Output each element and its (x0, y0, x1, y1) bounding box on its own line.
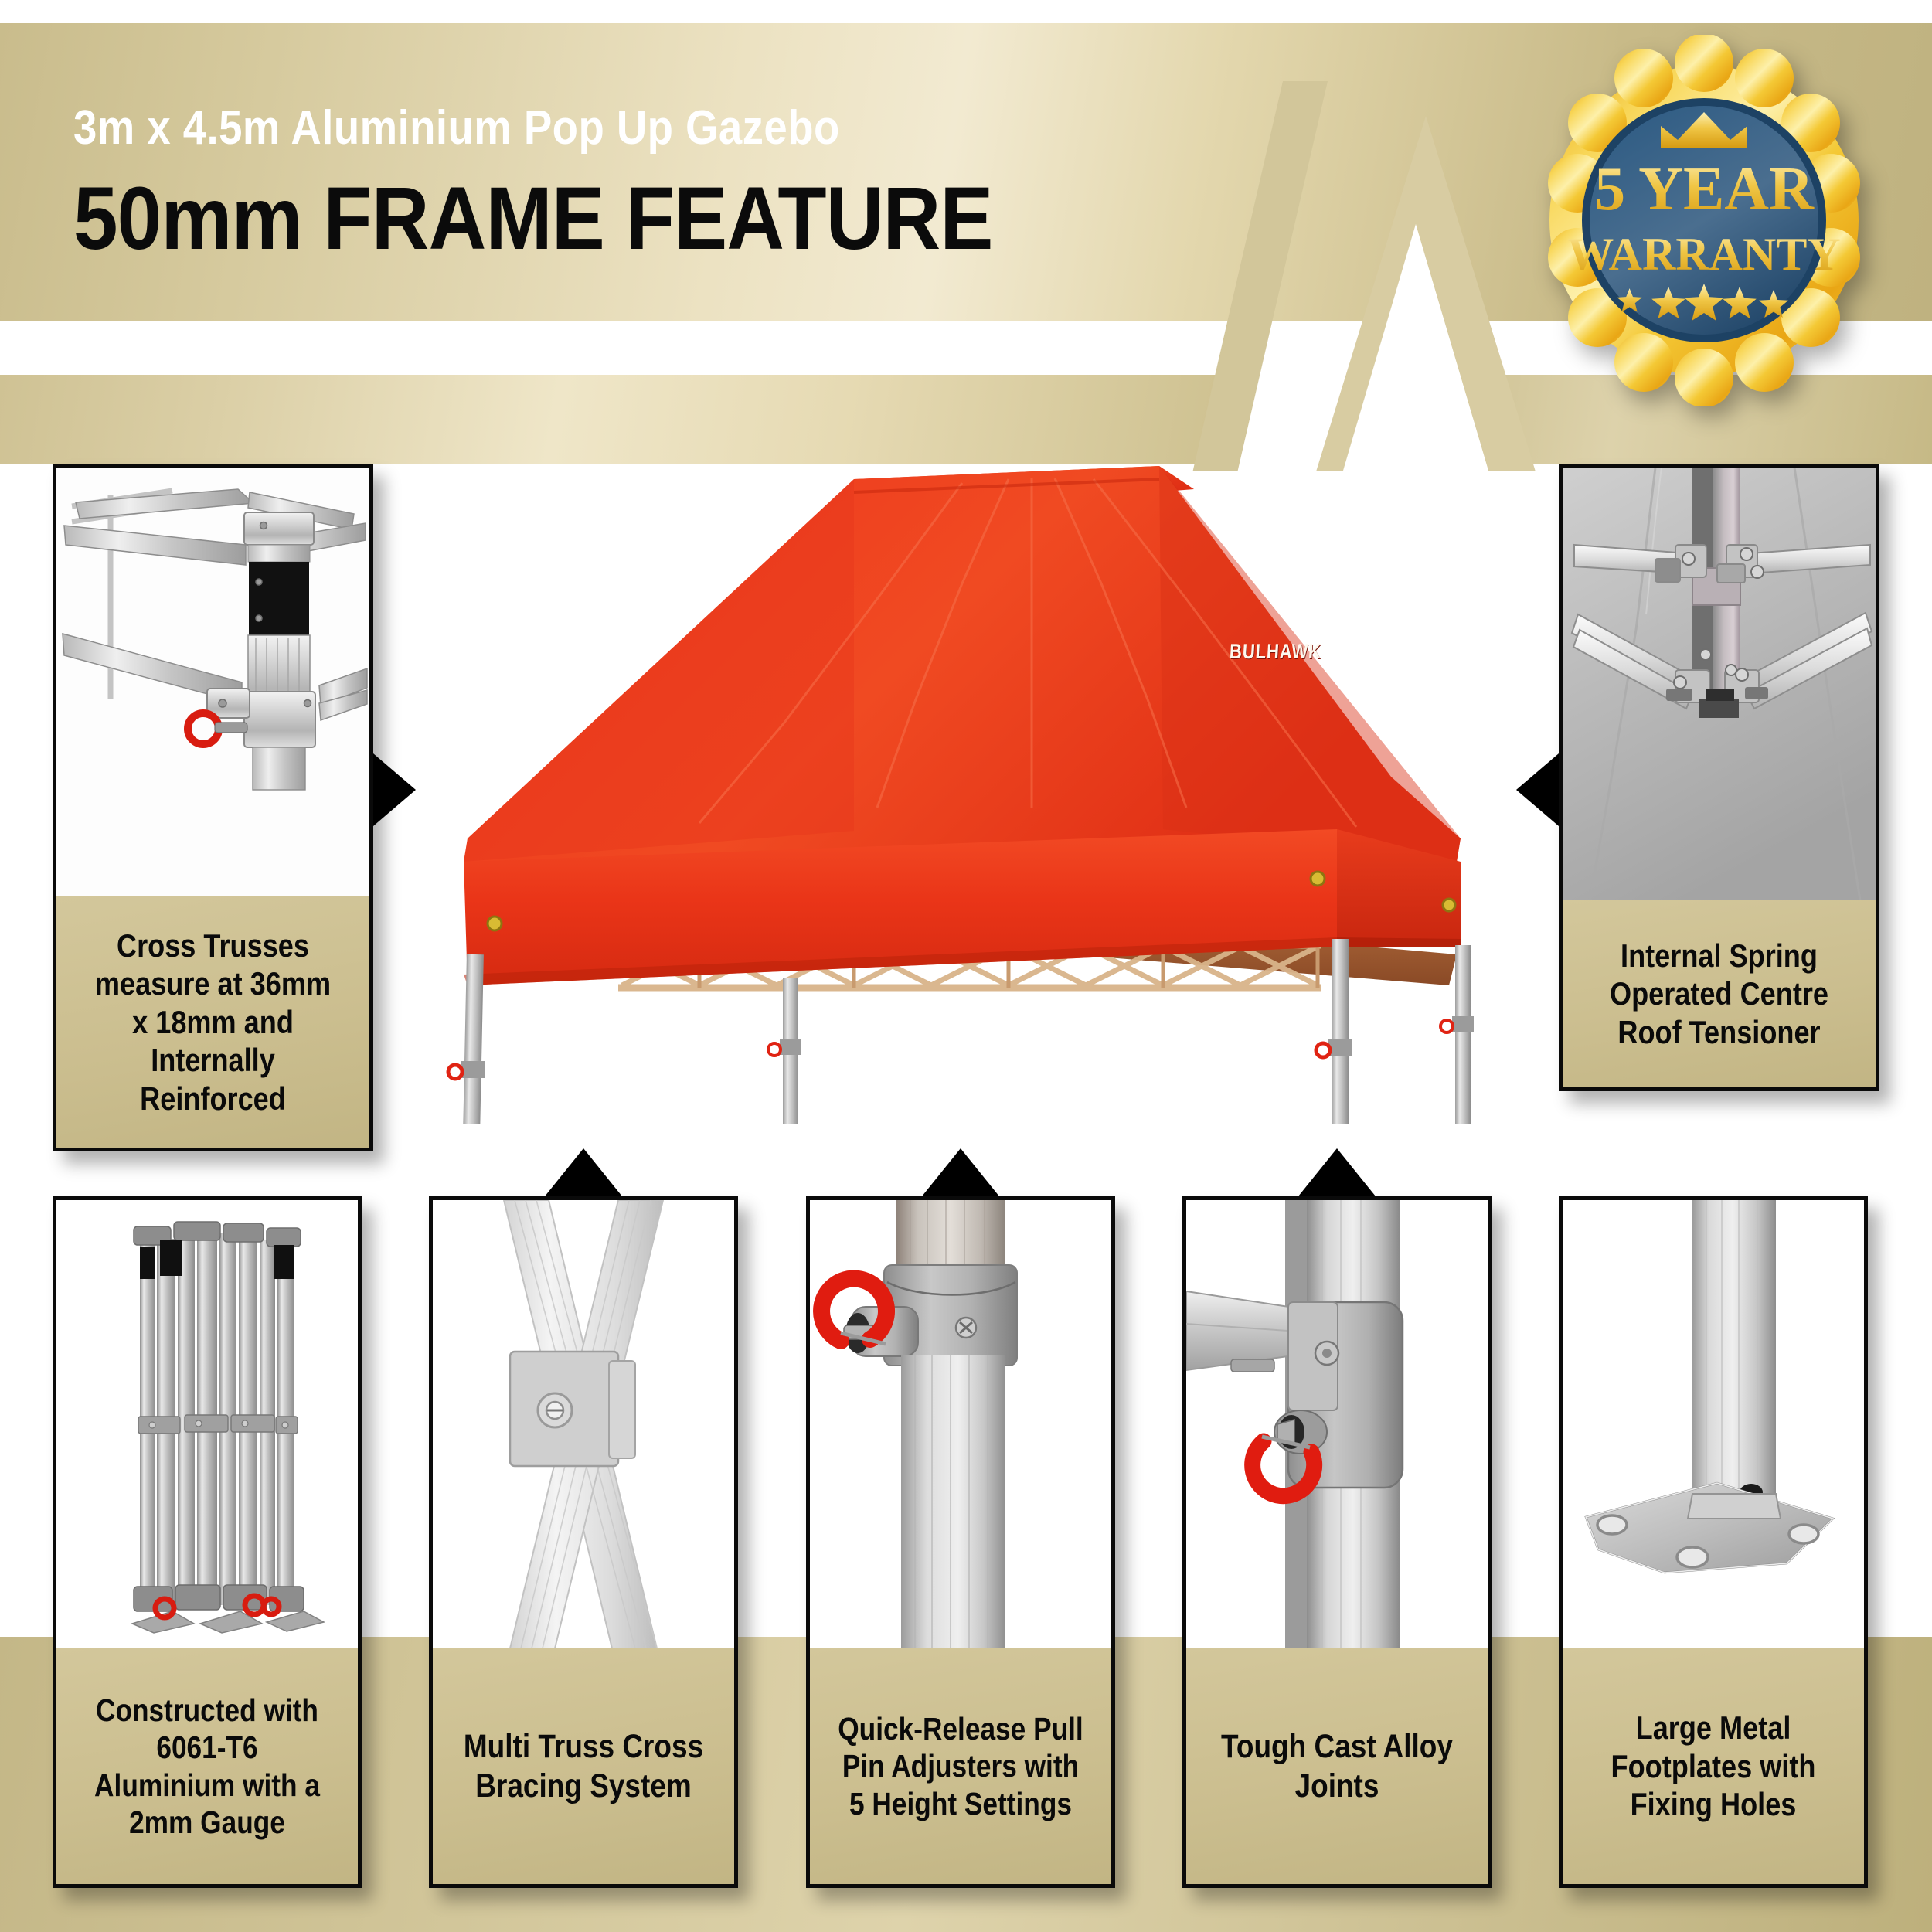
panel-caption: Constructed with 6061-T6 Aluminium with … (56, 1648, 358, 1884)
cast-alloy-joint-photo (1186, 1200, 1488, 1648)
panel-pull-pin[interactable]: Quick-Release Pull Pin Adjusters with 5 … (806, 1196, 1115, 1888)
panel-caption: Internal Spring Operated Centre Roof Ten… (1563, 900, 1876, 1087)
panel-caption: Tough Cast Alloy Joints (1186, 1648, 1488, 1884)
panel-caption-text: Cross Trusses measure at 36mm x 18mm and… (85, 927, 341, 1118)
pointer-arrow-right-top-left (373, 753, 416, 826)
panel-caption: Large Metal Footplates with Fixing Holes (1563, 1648, 1864, 1884)
gazebo-product-image (421, 444, 1519, 1124)
cross-bracing-photo (433, 1200, 734, 1648)
panel-caption-text: Large Metal Footplates with Fixing Holes (1590, 1709, 1836, 1824)
badge-years: 5 YEAR (1594, 155, 1815, 223)
badge-warranty: WARRANTY (1567, 229, 1840, 280)
panel-caption: Cross Trusses measure at 36mm x 18mm and… (56, 896, 369, 1148)
panel-caption-text: Constructed with 6061-T6 Aluminium with … (84, 1692, 330, 1842)
panel-cross-bracing[interactable]: Multi Truss Cross Bracing System (429, 1196, 738, 1888)
panel-caption-text: Tough Cast Alloy Joints (1214, 1727, 1460, 1805)
footplate-photo (1563, 1200, 1864, 1648)
roof-tensioner-photo (1563, 468, 1876, 900)
brand-logo: BULHAWK (1229, 640, 1322, 664)
panel-caption-text: Quick-Release Pull Pin Adjusters with 5 … (838, 1710, 1083, 1822)
pointer-arrow-up-cast-alloy (1298, 1148, 1376, 1196)
panel-caption-text: Internal Spring Operated Centre Roof Ten… (1591, 937, 1847, 1052)
pull-pin-photo (810, 1200, 1111, 1648)
panel-footplates[interactable]: Large Metal Footplates with Fixing Holes (1559, 1196, 1868, 1888)
cross-truss-photo (56, 468, 369, 896)
page-title: 50mm FRAME FEATURE (73, 168, 993, 270)
header-text-block: 3m x 4.5m Aluminium Pop Up Gazebo 50mm F… (73, 100, 1095, 270)
pointer-arrow-up-cross-bracing (545, 1148, 622, 1196)
panel-caption-text: Multi Truss Cross Bracing System (461, 1727, 706, 1805)
panel-cross-trusses[interactable]: Cross Trusses measure at 36mm x 18mm and… (53, 464, 373, 1151)
folded-frame-photo (56, 1200, 358, 1648)
panel-6061-aluminium[interactable]: Constructed with 6061-T6 Aluminium with … (53, 1196, 362, 1888)
pointer-arrow-up-pull-pin (922, 1148, 999, 1196)
panel-caption: Multi Truss Cross Bracing System (433, 1648, 734, 1884)
panel-roof-tensioner[interactable]: Internal Spring Operated Centre Roof Ten… (1559, 464, 1879, 1091)
panel-caption: Quick-Release Pull Pin Adjusters with 5 … (810, 1648, 1111, 1884)
panel-cast-alloy-joints[interactable]: Tough Cast Alloy Joints (1182, 1196, 1492, 1888)
page-subtitle: 3m x 4.5m Aluminium Pop Up Gazebo (73, 100, 972, 155)
warranty-badge: 5 YEAR WARRANTY (1519, 35, 1889, 406)
pointer-arrow-left-top-right (1516, 753, 1559, 826)
